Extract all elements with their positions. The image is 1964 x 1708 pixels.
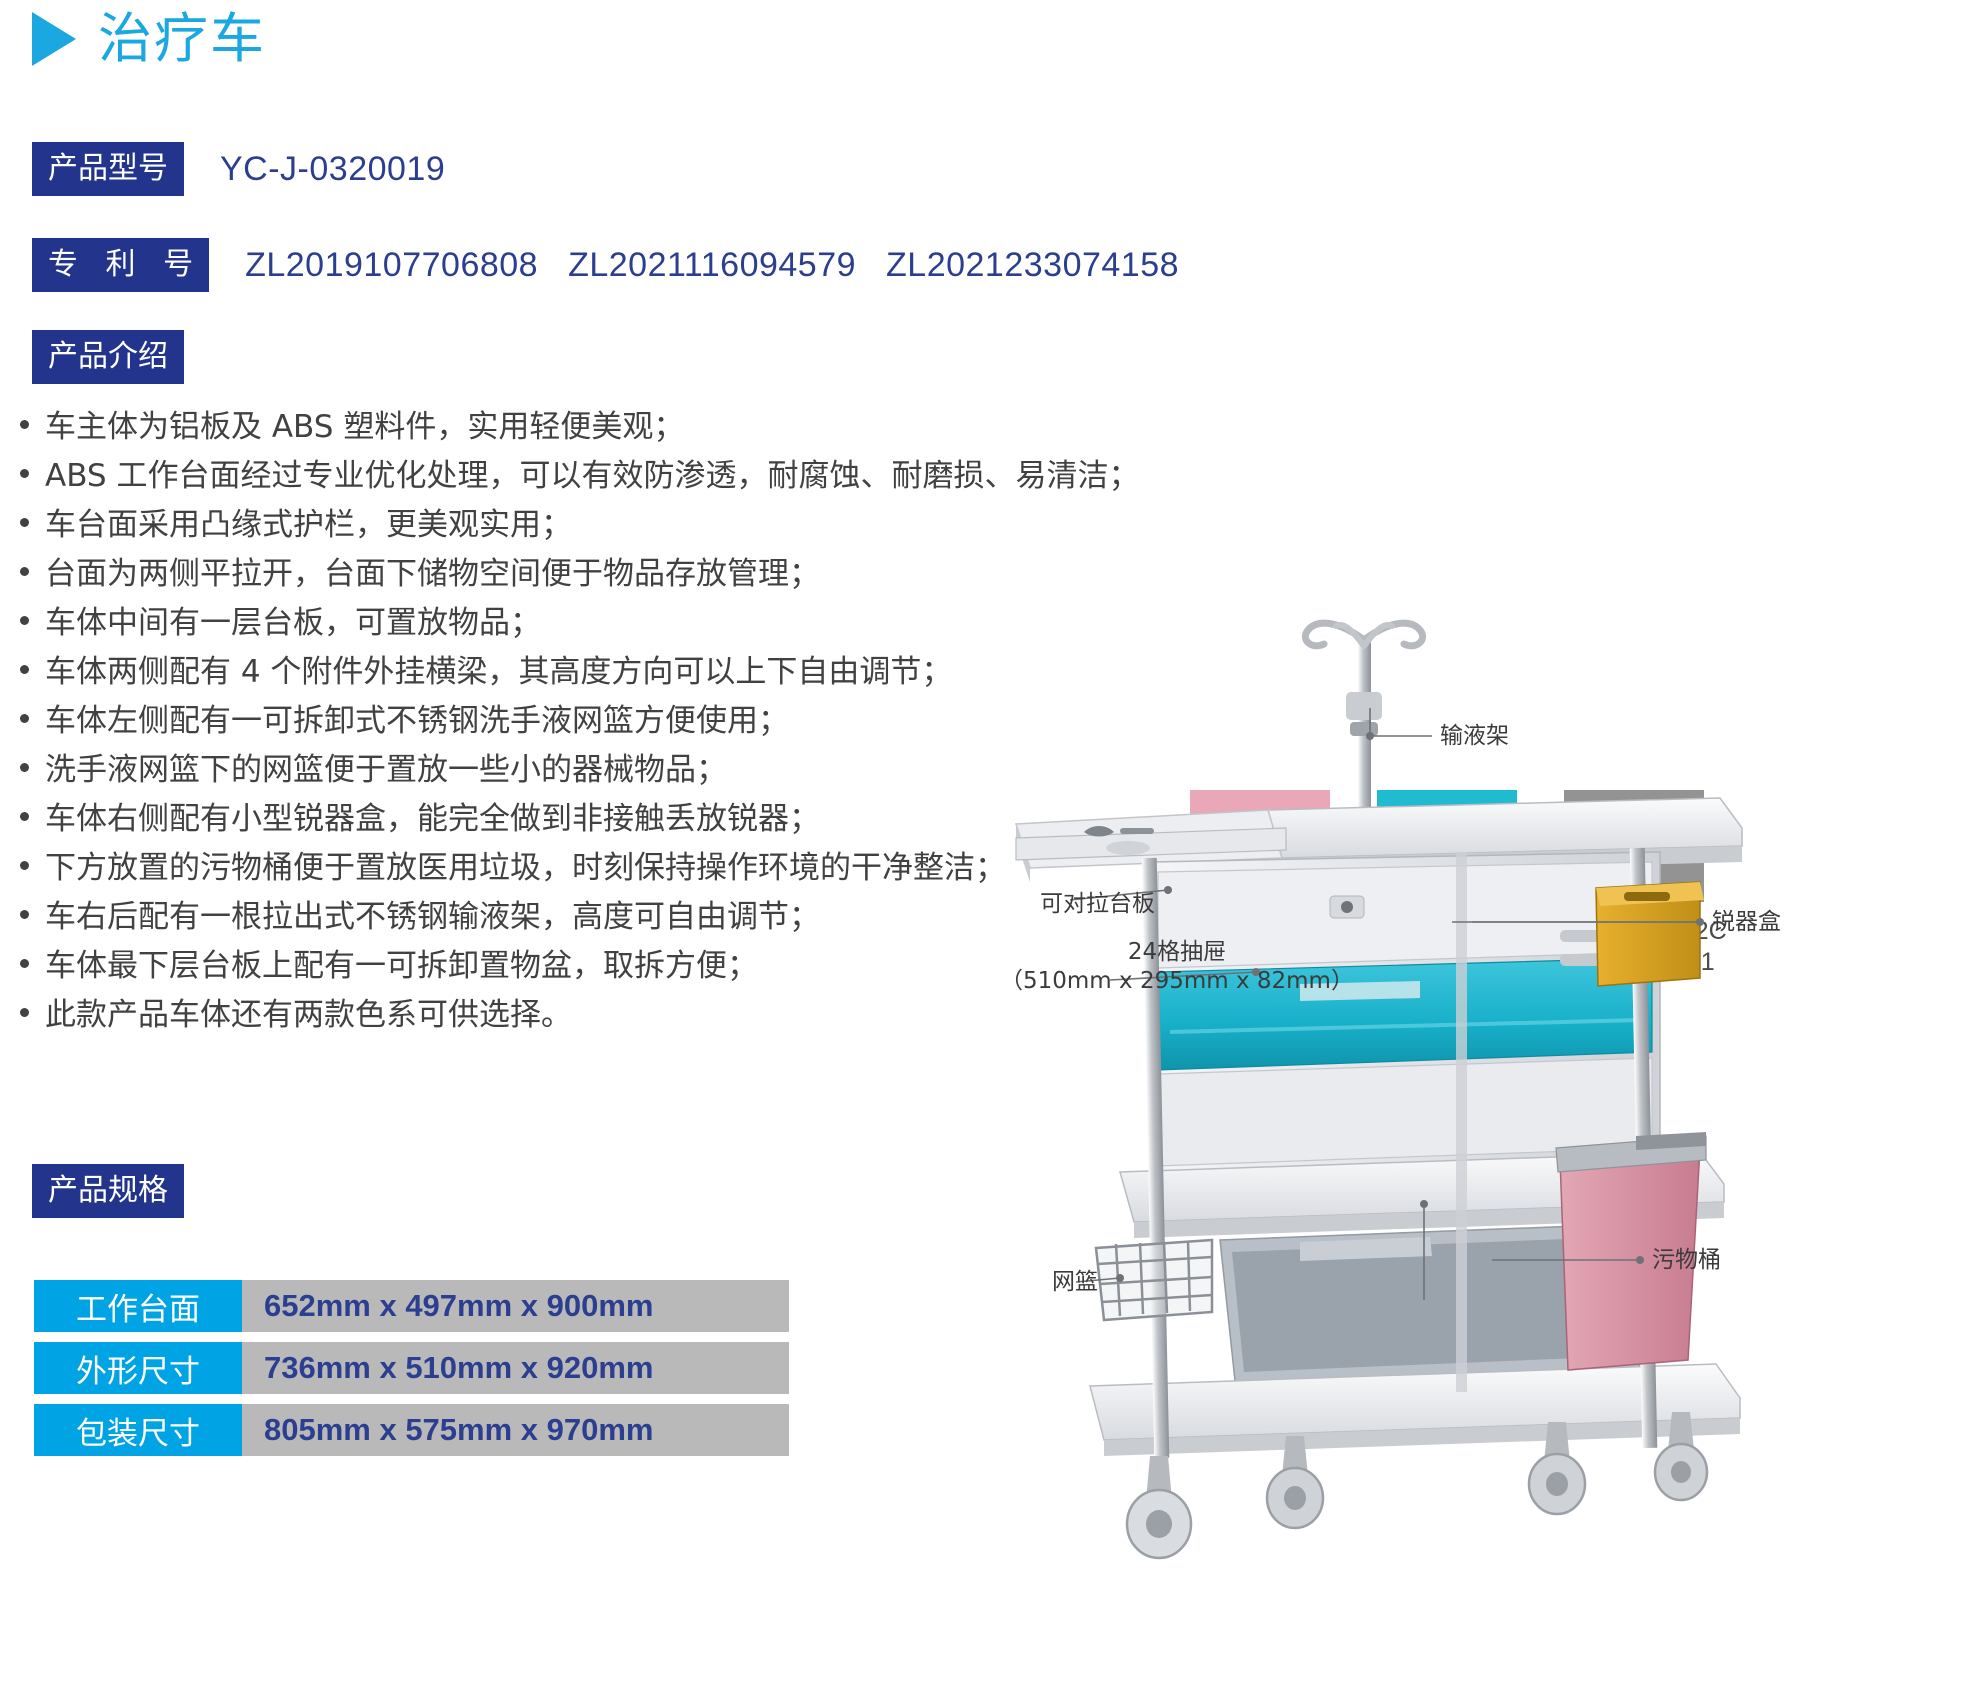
bullet-dot-icon [20, 469, 29, 478]
list-item-text: 车台面采用凸缘式护栏，更美观实用； [45, 510, 572, 541]
table-row: 工作台面 652mm x 497mm x 900mm [34, 1280, 789, 1332]
product-intro-heading-wrap: 产品介绍 [32, 330, 184, 384]
spec-key: 包装尺寸 [34, 1404, 242, 1456]
product-photo-area: 输液架 锐器盒 污物桶 [1000, 600, 1964, 1708]
bullet-dot-icon [20, 812, 29, 821]
bullet-dot-icon [20, 567, 29, 576]
list-item-text: 洗手液网篮下的网篮便于置放一些小的器械物品； [45, 755, 727, 786]
list-item-text: 车体左侧配有一可拆卸式不锈钢洗手液网篮方便使用； [45, 706, 789, 737]
bullet-dot-icon [20, 1008, 29, 1017]
patent-number: ZL2021233074158 [886, 246, 1179, 285]
list-item: ABS 工作台面经过专业优化处理，可以有效防渗透，耐腐蚀、耐磨损、易清洁； [20, 461, 1220, 492]
product-model-row: 产品型号 YC-J-0320019 [32, 142, 445, 196]
patent-number-label: 专 利 号 [32, 238, 209, 292]
bullet-dot-icon [20, 959, 29, 968]
list-item-text: 车体两侧配有 4 个附件外挂横梁，其高度方向可以上下自由调节； [45, 657, 952, 688]
page-title: 治疗车 [98, 12, 266, 66]
bullet-dot-icon [20, 714, 29, 723]
sharps-box-graphic [1596, 882, 1704, 986]
bullet-dot-icon [20, 420, 29, 429]
callout-wire-basket: 网篮 [1052, 1268, 1098, 1297]
callout-pull-out-board: 可对拉台板 [1040, 890, 1155, 919]
bullet-dot-icon [20, 665, 29, 674]
bullet-dot-icon [20, 861, 29, 870]
product-intro-heading: 产品介绍 [32, 330, 184, 384]
list-item: 车台面采用凸缘式护栏，更美观实用； [20, 510, 1220, 541]
list-item-text: 车体中间有一层台板，可置放物品； [45, 608, 541, 639]
bullet-dot-icon [20, 763, 29, 772]
spec-key: 工作台面 [34, 1280, 242, 1332]
cart-body-graphic [1152, 852, 1660, 1178]
product-specs-table: 工作台面 652mm x 497mm x 900mm 外形尺寸 736mm x … [34, 1280, 789, 1456]
list-item-text: 车体右侧配有小型锐器盒，能完全做到非接触丢放锐器； [45, 804, 820, 835]
play-triangle-icon [32, 12, 76, 66]
list-item-text: 此款产品车体还有两款色系可供选择。 [45, 1000, 572, 1031]
wire-basket-graphic [1096, 1240, 1212, 1320]
patent-number: ZL2021116094579 [568, 246, 856, 285]
list-item-text: ABS 工作台面经过专业优化处理，可以有效防渗透，耐腐蚀、耐磨损、易清洁； [45, 461, 1139, 492]
callout-drawer-title: 24格抽屉 [1000, 938, 1354, 967]
list-item-text: 车体最下层台板上配有一可拆卸置物盆，取拆方便； [45, 951, 758, 982]
list-item-text: 下方放置的污物桶便于置放医用垃圾，时刻保持操作环境的干净整洁； [45, 853, 1006, 884]
patent-number: ZL2019107706808 [245, 246, 538, 285]
product-model-value: YC-J-0320019 [220, 150, 445, 189]
spec-value: 652mm x 497mm x 900mm [242, 1280, 789, 1332]
medical-cart-illustration [1000, 600, 1964, 1708]
spec-key: 外形尺寸 [34, 1342, 242, 1394]
callout-iv-pole: 输液架 [1440, 722, 1509, 751]
bullet-dot-icon [20, 518, 29, 527]
list-item-text: 台面为两侧平拉开，台面下储物空间便于物品存放管理； [45, 559, 820, 590]
product-specs-heading: 产品规格 [32, 1164, 184, 1218]
bullet-dot-icon [20, 616, 29, 625]
list-item: 台面为两侧平拉开，台面下储物空间便于物品存放管理； [20, 559, 1220, 590]
list-item: 车主体为铝板及 ABS 塑料件，实用轻便美观； [20, 412, 1220, 443]
callout-drawer-dimensions: （510mm x 295mm x 82mm） [1000, 967, 1354, 996]
list-item-text: 车主体为铝板及 ABS 塑料件，实用轻便美观； [45, 412, 684, 443]
page-title-row: 治疗车 [32, 12, 266, 66]
callout-sharps-box: 锐器盒 [1712, 908, 1781, 937]
patent-number-list: ZL2019107706808 ZL2021116094579 ZL202123… [245, 246, 1179, 285]
table-row: 包装尺寸 805mm x 575mm x 970mm [34, 1404, 789, 1456]
bullet-dot-icon [20, 910, 29, 919]
callout-waste-bin: 污物桶 [1652, 1246, 1721, 1275]
spec-value: 805mm x 575mm x 970mm [242, 1404, 789, 1456]
callout-drawer: 24格抽屉 （510mm x 295mm x 82mm） [1000, 938, 1354, 996]
product-model-label: 产品型号 [32, 142, 184, 196]
product-specs-heading-wrap: 产品规格 [32, 1164, 184, 1218]
list-item-text: 车右后配有一根拉出式不锈钢输液架，高度可自由调节； [45, 902, 820, 933]
spec-value: 736mm x 510mm x 920mm [242, 1342, 789, 1394]
table-row: 外形尺寸 736mm x 510mm x 920mm [34, 1342, 789, 1394]
patent-number-row: 专 利 号 ZL2019107706808 ZL2021116094579 ZL… [32, 238, 1179, 292]
